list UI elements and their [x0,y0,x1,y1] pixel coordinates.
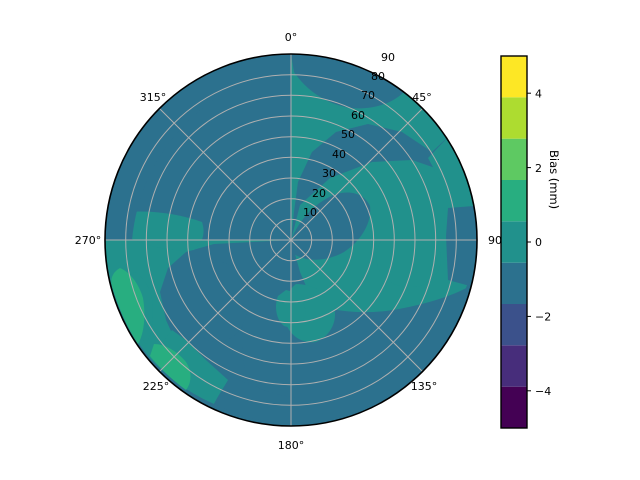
colorbar-band-5 [501,221,527,262]
radial-tick-80: 80 [371,70,385,83]
angular-tick-270: 270° [75,234,102,247]
radial-tick-70: 70 [361,89,375,102]
colorbar-band-9 [501,56,527,97]
angular-tick-45: 45° [412,91,432,104]
colorbar-tick-neg4: −4 [535,385,551,398]
angular-tick-0: 0° [285,31,298,44]
radial-tick-50: 50 [341,128,355,141]
colorbar-band-7 [501,139,527,180]
radial-tick-90: 90 [381,51,395,64]
radial-tick-40: 40 [332,148,346,161]
colorbar-band-2 [501,345,527,386]
colorbar-band-1 [501,387,527,428]
radial-tick-10: 10 [303,206,317,219]
colorbar-band-3 [501,304,527,345]
contour-band-darkteal-right-edge [446,206,477,286]
polar-grid [105,54,477,426]
angular-tick-315: 315° [140,91,167,104]
colorbar-tick-0: 0 [535,236,542,249]
polar-figure: 0° 45° 90 135° 180° 225° 270° 315° 10 20… [0,0,640,480]
colorbar-tick-neg2: −2 [535,311,551,324]
radial-tick-60: 60 [351,109,365,122]
angular-tick-90: 90 [488,234,502,247]
angular-tick-225: 225° [143,380,170,393]
colorbar-axis-label: Bias (mm) [547,150,561,310]
colorbar-tick-4: 4 [535,87,542,100]
angular-tick-135: 135° [411,380,438,393]
colorbar-band-8 [501,97,527,138]
radial-tick-20: 20 [312,187,326,200]
colorbar-tick-2: 2 [535,162,542,175]
radial-tick-30: 30 [322,167,336,180]
colorbar-band-6 [501,180,527,221]
angular-tick-180: 180° [278,439,305,452]
colorbar-band-4 [501,263,527,304]
